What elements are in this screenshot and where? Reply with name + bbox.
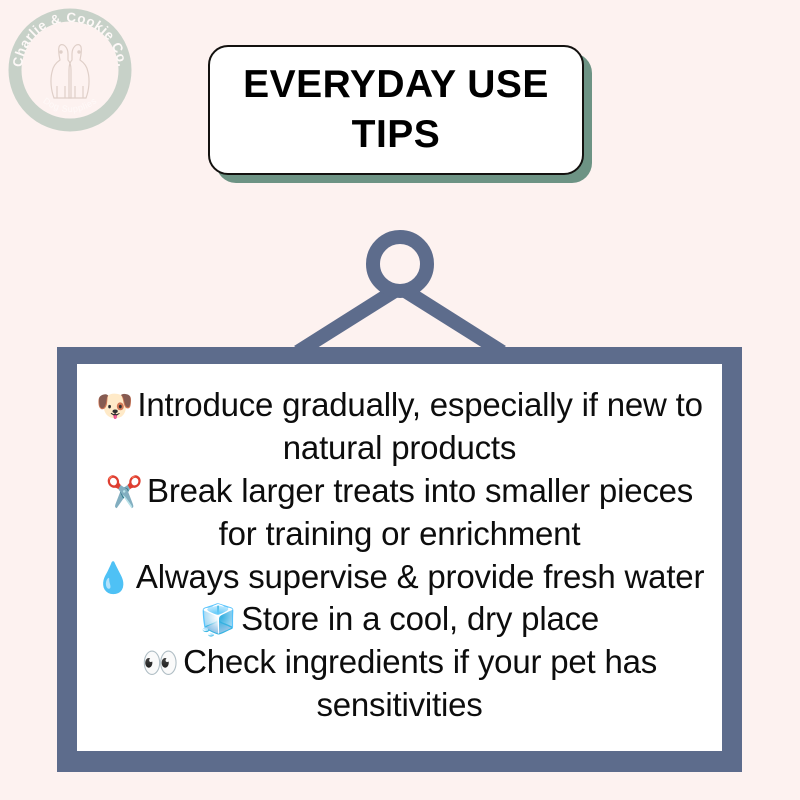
- hanger-ring-icon: [373, 237, 427, 291]
- sign-board: 🐶Introduce gradually, especially if new …: [77, 364, 722, 751]
- ice-cube-emoji: 🧊: [200, 603, 237, 638]
- sign-hanger: [280, 230, 520, 355]
- list-item: 🐶Introduce gradually, especially if new …: [81, 384, 718, 470]
- eyes-emoji: 👀: [142, 646, 179, 681]
- tips-list: 🐶Introduce gradually, especially if new …: [81, 384, 718, 727]
- tip-text: Check ingredients if your pet has sensit…: [183, 643, 657, 723]
- tip-text: Break larger treats into smaller pieces …: [147, 472, 693, 552]
- title-banner: EVERYDAY USE TIPS: [208, 45, 584, 175]
- page-title: EVERYDAY USE TIPS: [225, 60, 567, 160]
- infographic-canvas: Charlie & Cookie Co. Dog Supplies EVERYD…: [0, 0, 800, 800]
- list-item: 💧Always supervise & provide fresh water: [81, 556, 718, 599]
- list-item: 🧊Store in a cool, dry place: [81, 598, 718, 641]
- svg-text:Charlie & Cookie Co.: Charlie & Cookie Co.: [10, 10, 130, 68]
- droplet-emoji: 💧: [95, 561, 132, 596]
- tip-text: Store in a cool, dry place: [241, 600, 599, 637]
- svg-text:Dog Supplies: Dog Supplies: [41, 95, 98, 114]
- tip-text: Introduce gradually, especially if new t…: [137, 386, 702, 466]
- list-item: ✂️Break larger treats into smaller piece…: [81, 470, 718, 556]
- brand-watermark-logo: Charlie & Cookie Co. Dog Supplies: [2, 2, 138, 138]
- hanger-arms-icon: [294, 284, 506, 355]
- list-item: 👀Check ingredients if your pet has sensi…: [81, 641, 718, 727]
- scissors-emoji: ✂️: [106, 475, 143, 510]
- sign-frame: 🐶Introduce gradually, especially if new …: [57, 347, 742, 772]
- tip-text: Always supervise & provide fresh water: [136, 558, 704, 595]
- watermark-brand-text: Charlie & Cookie Co.: [10, 10, 130, 68]
- watermark-tagline-text: Dog Supplies: [41, 95, 98, 114]
- dog-face-emoji: 🐶: [96, 389, 133, 424]
